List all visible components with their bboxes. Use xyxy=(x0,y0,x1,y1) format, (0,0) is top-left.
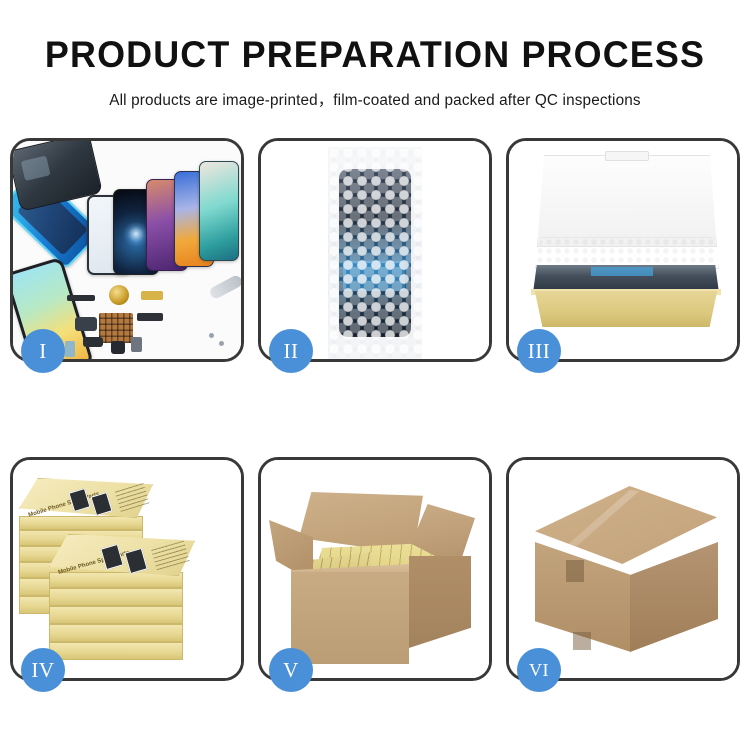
step-image-2 xyxy=(261,141,489,359)
sealed-carton-scene xyxy=(509,460,737,678)
carton-edge-tab xyxy=(573,632,591,650)
bubble-bag-icon xyxy=(328,147,422,359)
step-image-4: Mobile Phone Spare Parts Mobile Phone Sp… xyxy=(13,460,241,678)
step-image-1 xyxy=(13,141,241,359)
carton-edge-tab xyxy=(566,560,584,582)
step-badge-6: VI xyxy=(517,648,561,692)
battery-part-icon xyxy=(131,337,142,352)
phone-screen-teal-icon xyxy=(199,161,239,261)
step-panel-3: III xyxy=(506,138,740,362)
step-panel-2: II xyxy=(258,138,492,362)
box-lid-icon xyxy=(537,155,717,247)
box-stack-scene: Mobile Phone Spare Parts Mobile Phone Sp… xyxy=(13,460,241,678)
connector-part-icon xyxy=(65,341,75,357)
stacked-box xyxy=(49,606,183,624)
stacked-box xyxy=(19,516,143,530)
open-carton-scene xyxy=(261,460,489,678)
open-mailer-box-scene xyxy=(509,141,737,359)
step-panel-5: V xyxy=(258,457,492,681)
step-panel-4: Mobile Phone Spare Parts Mobile Phone Sp… xyxy=(10,457,244,681)
page-header: PRODUCT PREPARATION PROCESS All products… xyxy=(0,0,750,110)
screw-icon xyxy=(219,341,224,346)
carton-front-face xyxy=(291,572,409,664)
flex-cable-b-icon xyxy=(137,313,163,321)
carton-side-face xyxy=(409,556,471,648)
step-badge-5: V xyxy=(269,648,313,692)
stacked-box xyxy=(49,642,183,660)
screw-mat-icon xyxy=(99,313,133,343)
step-panel-6: VI xyxy=(506,457,740,681)
step-image-6 xyxy=(509,460,737,678)
screw-icon xyxy=(209,333,214,338)
process-steps-grid: I II III xyxy=(10,138,740,681)
carton-right-face xyxy=(630,542,718,652)
bubble-wrap-scene xyxy=(261,141,489,359)
step-image-3 xyxy=(509,141,737,359)
flex-cable-c-icon xyxy=(75,317,97,331)
page-subtitle: All products are image-printed，film-coat… xyxy=(0,88,750,110)
step-badge-4: IV xyxy=(21,648,65,692)
step-badge-1: I xyxy=(21,329,65,373)
flex-cable-d-icon xyxy=(83,337,103,347)
bubble-texture-overlay xyxy=(328,147,422,359)
step-badge-2: II xyxy=(269,329,313,373)
page-title: PRODUCT PREPARATION PROCESS xyxy=(11,34,739,77)
earpiece-part-icon xyxy=(67,295,95,301)
phone-parts-scene xyxy=(13,141,241,359)
step-panel-1: I xyxy=(10,138,244,362)
step-badge-3: III xyxy=(517,329,561,373)
step-image-5 xyxy=(261,460,489,678)
speaker-part-icon xyxy=(109,285,129,305)
box-lid-tab-icon xyxy=(605,151,649,161)
repair-tool-icon xyxy=(208,274,241,301)
stacked-box xyxy=(49,588,183,606)
flex-cable-a-icon xyxy=(141,291,163,300)
foam-liner-icon xyxy=(535,237,719,269)
stacked-box xyxy=(49,624,183,642)
yellow-box-base-icon xyxy=(531,291,721,327)
camera-module-icon xyxy=(111,341,125,354)
